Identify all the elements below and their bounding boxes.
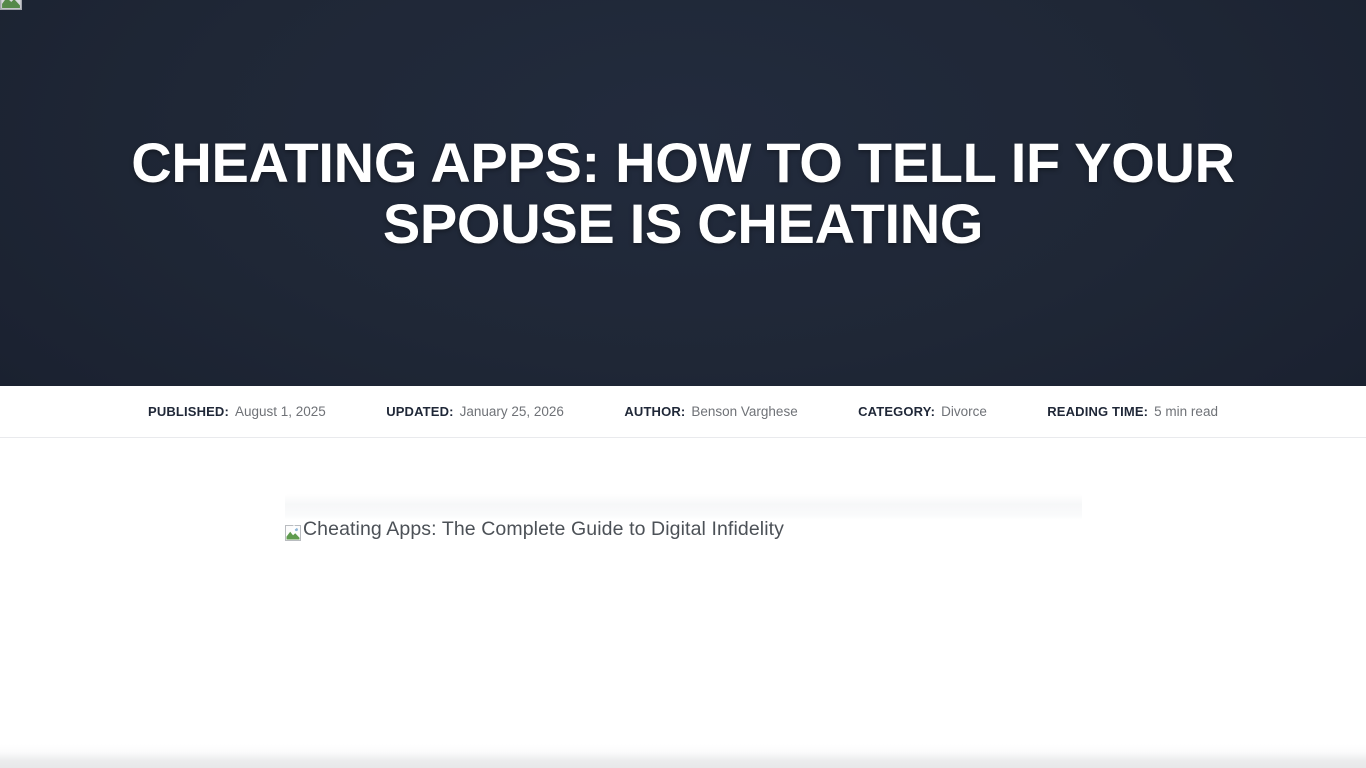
meta-value-category[interactable]: Divorce [941, 404, 987, 419]
article-meta-bar: PUBLISHED: August 1, 2025 UPDATED: Janua… [0, 386, 1366, 438]
article-body: Cheating Apps: The Complete Guide to Dig… [0, 438, 1366, 768]
featured-image-alt-text: Cheating Apps: The Complete Guide to Dig… [303, 516, 784, 542]
meta-item-reading-time: READING TIME: 5 min read [1047, 404, 1218, 419]
meta-value-published: August 1, 2025 [235, 404, 326, 419]
article-page: Cheating Apps: How to Tell if Your Spous… [0, 0, 1366, 768]
meta-label-reading-time: READING TIME: [1047, 404, 1148, 419]
meta-item-author: AUTHOR: Benson Varghese [624, 404, 797, 419]
hero-content: Cheating Apps: How to Tell if Your Spous… [0, 0, 1366, 386]
meta-item-updated: UPDATED: January 25, 2026 [386, 404, 564, 419]
meta-label-category: CATEGORY: [858, 404, 935, 419]
hero-banner: Cheating Apps: How to Tell if Your Spous… [0, 0, 1366, 386]
featured-image: Cheating Apps: The Complete Guide to Dig… [285, 516, 1085, 542]
meta-value-reading-time: 5 min read [1154, 404, 1218, 419]
meta-value-updated: January 25, 2026 [460, 404, 564, 419]
meta-label-author: AUTHOR: [624, 404, 685, 419]
page-title: Cheating Apps: How to Tell if Your Spous… [123, 132, 1243, 254]
meta-label-published: PUBLISHED: [148, 404, 229, 419]
meta-row: PUBLISHED: August 1, 2025 UPDATED: Janua… [148, 386, 1218, 437]
next-section-divider [0, 744, 1366, 768]
meta-item-category: CATEGORY: Divorce [858, 404, 987, 419]
meta-label-updated: UPDATED: [386, 404, 453, 419]
meta-value-author[interactable]: Benson Varghese [691, 404, 797, 419]
broken-image-icon [285, 525, 301, 541]
meta-item-published: PUBLISHED: August 1, 2025 [148, 404, 326, 419]
